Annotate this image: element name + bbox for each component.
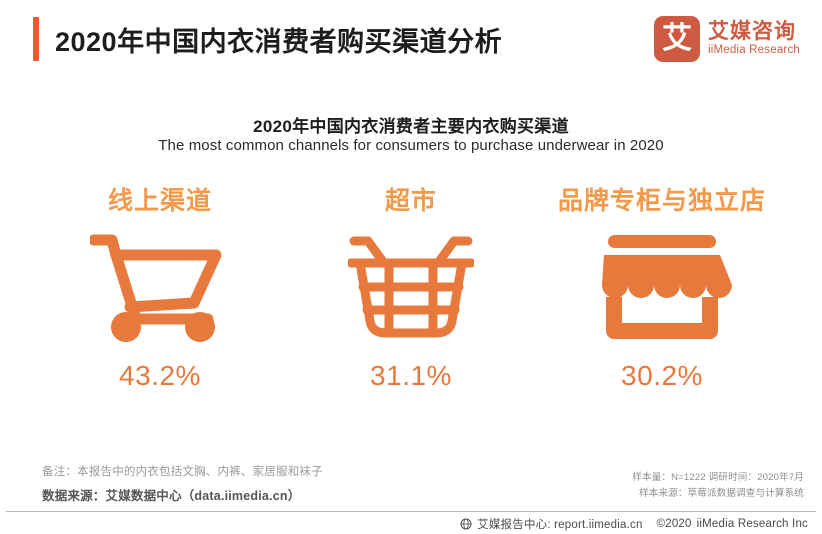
globe-icon — [460, 518, 472, 530]
shopping-basket-icon — [348, 230, 474, 348]
page-title: 2020年中国内衣消费者购买渠道分析 — [55, 20, 502, 59]
footnotes: 备注：本报告中的内衣包括文胸、内裤、家居服和袜子 数据来源：艾媒数据中心（dat… — [42, 464, 323, 506]
header-accent-bar — [33, 17, 39, 61]
sample-size-line: 样本量：N=1222 调研时间：2020年7月 — [632, 470, 804, 486]
footer-divider — [6, 511, 816, 512]
channel-label: 品牌专柜与独立店 — [558, 188, 766, 216]
channel-value: 31.1% — [370, 360, 452, 392]
sample-info: 样本量：N=1222 调研时间：2020年7月 样本来源：草莓派数据调查与计算系… — [632, 470, 804, 502]
infographic-page: 2020年中国内衣消费者购买渠道分析 艾 艾媒咨询 iiMedia Resear… — [0, 0, 822, 534]
footer-bar: 艾媒报告中心: report.iimedia.cn ©2020 iiMedia … — [0, 513, 822, 534]
channel-value: 30.2% — [621, 360, 703, 392]
brand-mark-icon: 艾 — [654, 16, 700, 62]
chart-subtitle: The most common channels for consumers t… — [0, 137, 822, 154]
channel-item: 品牌专柜与独立店 30.2% — [542, 188, 782, 392]
copyright-text: ©2020 — [657, 518, 692, 530]
channel-label: 线上渠道 — [108, 188, 212, 216]
channel-value: 43.2% — [119, 360, 201, 392]
brand-name-cn: 艾媒咨询 — [708, 20, 800, 44]
company-name: iiMedia Research Inc — [697, 518, 808, 530]
channel-item: 超市 31.1% — [291, 188, 531, 392]
brand-text: 艾媒咨询 iiMedia Research — [708, 20, 800, 58]
channel-item: 线上渠道 43.2% — [40, 188, 280, 392]
report-center-link[interactable]: 艾媒报告中心: report.iimedia.cn — [477, 516, 642, 532]
sample-source-line: 样本来源：草莓派数据调查与计算系统 — [632, 486, 804, 502]
note-remark: 备注：本报告中的内衣包括文胸、内裤、家居服和袜子 — [42, 464, 323, 481]
brand-logo: 艾 艾媒咨询 iiMedia Research — [654, 16, 800, 62]
note-data-source: 数据来源：艾媒数据中心（data.iimedia.cn） — [42, 486, 323, 506]
chart-area: 线上渠道 43.2% 超市 — [40, 188, 782, 418]
page-header: 2020年中国内衣消费者购买渠道分析 艾 艾媒咨询 iiMedia Resear… — [0, 0, 822, 78]
shopping-cart-icon — [90, 230, 230, 348]
channel-label: 超市 — [385, 188, 437, 216]
storefront-icon — [592, 230, 732, 348]
chart-title: 2020年中国内衣消费者主要内衣购买渠道 — [0, 112, 822, 137]
brand-name-en: iiMedia Research — [708, 44, 800, 58]
